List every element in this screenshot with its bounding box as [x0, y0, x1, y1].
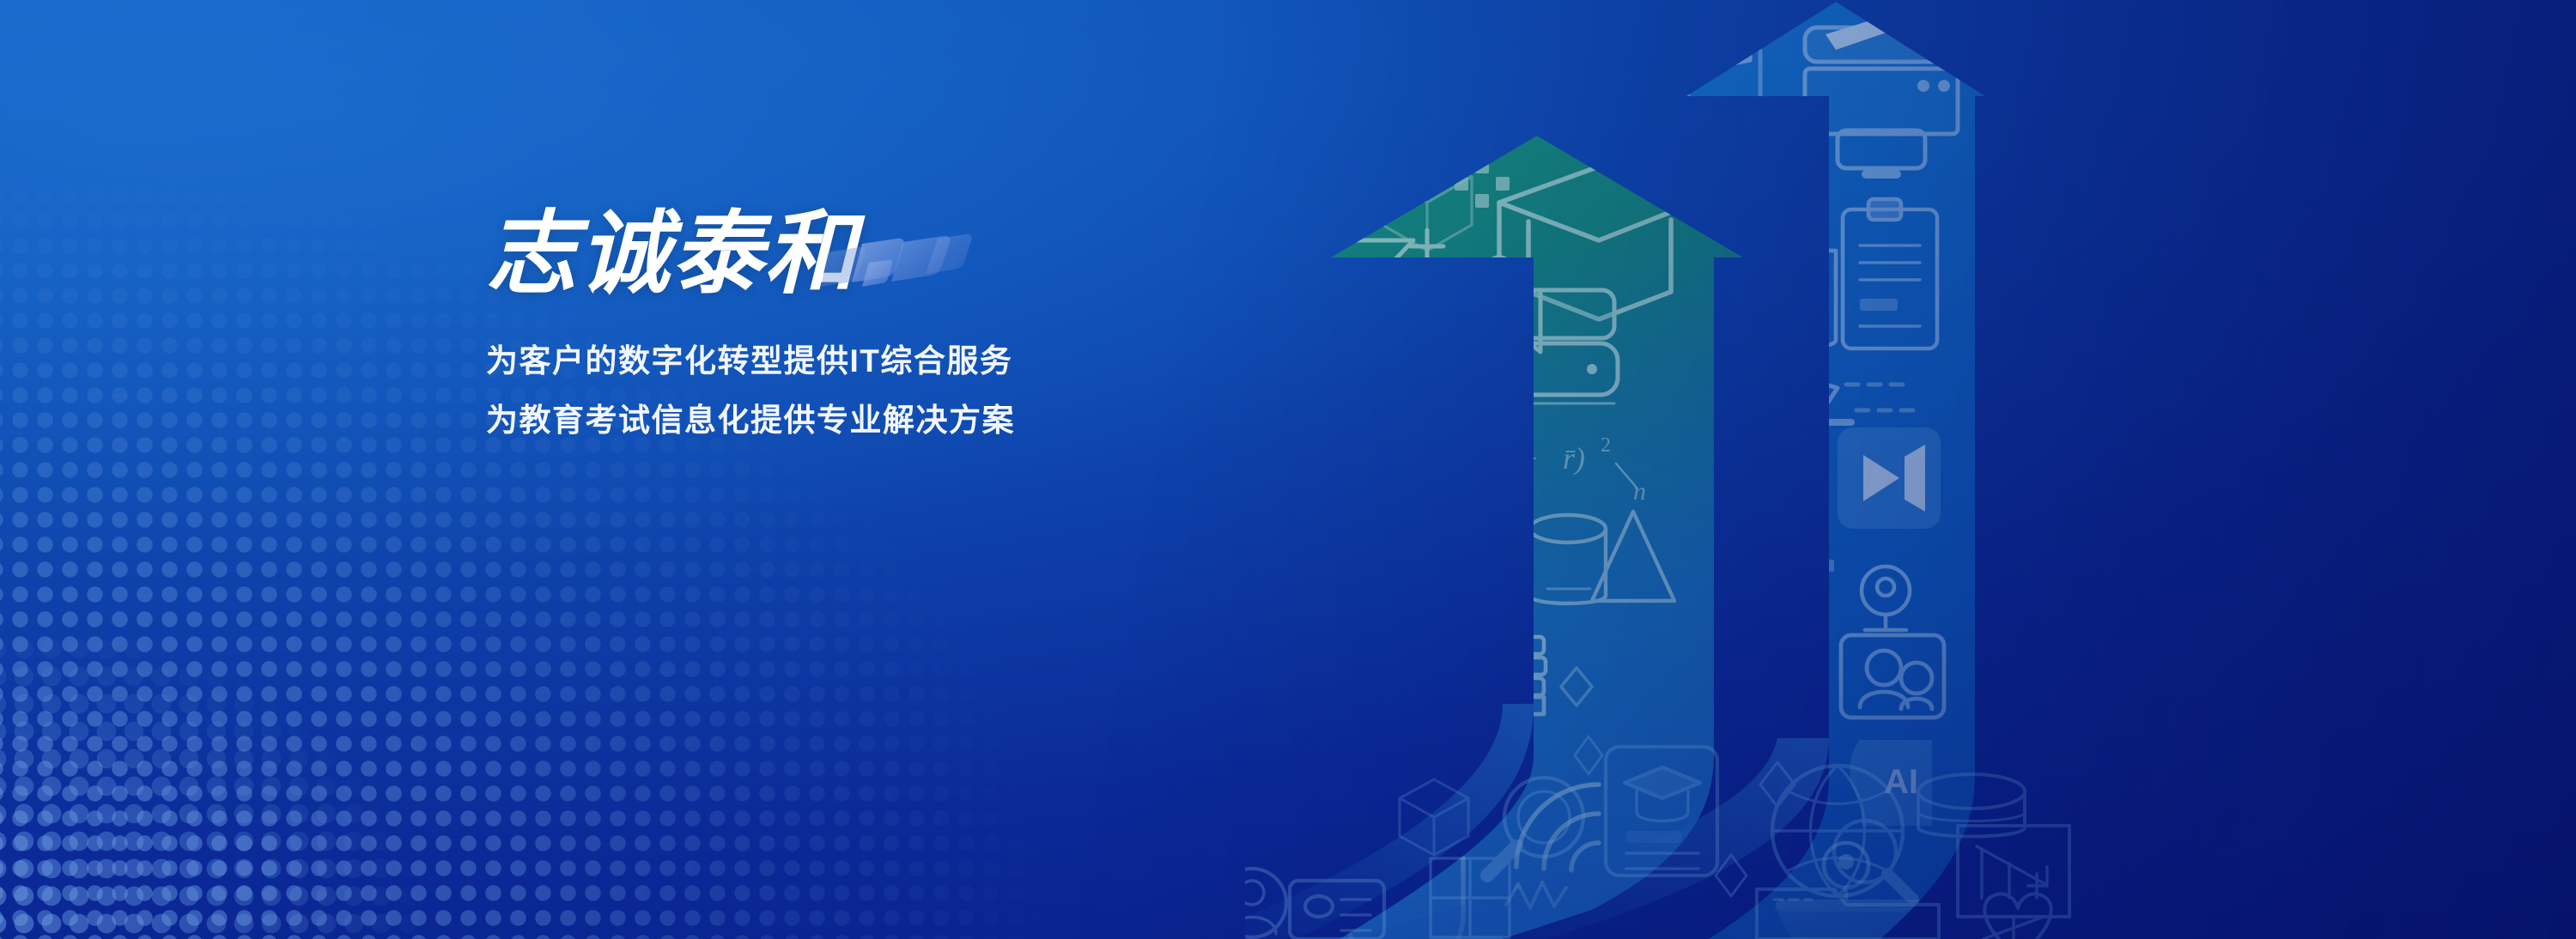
tagline-line-2: 为教育考试信息化提供专业解决方案	[486, 404, 1015, 436]
hero-banner: Σ n i (r i − r̄) 2 n	[0, 0, 2576, 939]
arrow-illustration-group: Σ n i (r i − r̄) 2 n	[1245, 0, 2104, 939]
tagline-line-1: 为客户的数字化转型提供IT综合服务	[486, 345, 1015, 377]
svg-text:−: −	[1520, 441, 1537, 476]
plus-dots-icon	[1709, 194, 1810, 209]
plus-dots-icon	[1332, 436, 1379, 478]
brand-logo-row: 志诚泰和	[486, 203, 1015, 314]
tagline-block: 为客户的数字化转型提供IT综合服务 为教育考试信息化提供专业解决方案	[486, 345, 1015, 436]
svg-text:n: n	[1633, 477, 1646, 506]
svg-text:n: n	[1451, 441, 1461, 463]
svg-text:i: i	[1451, 465, 1456, 487]
plus-dots-icon	[1788, 544, 1834, 587]
sparkle-diamond-icon	[1367, 335, 1398, 373]
school-building-icon	[1336, 735, 1422, 827]
svg-text:i: i	[1506, 460, 1511, 482]
svg-text:Σ: Σ	[1428, 443, 1447, 477]
pen-holder-icon	[1772, 209, 1836, 348]
it-arrow: AI	[1681, 2, 1985, 939]
parallelogram-logo-mark	[817, 221, 972, 297]
svg-text:(r: (r	[1473, 441, 1497, 476]
halftone-dot-pattern-dense	[0, 553, 515, 939]
sparkle-diamond-icon	[1733, 307, 1767, 348]
presentation-chart-icon	[1958, 826, 2069, 939]
svg-text:2: 2	[1601, 434, 1611, 457]
video-camera-icon	[1838, 427, 1941, 529]
hero-content: 志诚泰和	[486, 203, 1015, 436]
svg-text:AI: AI	[1884, 763, 1918, 801]
svg-text:r̄): r̄)	[1563, 441, 1585, 476]
